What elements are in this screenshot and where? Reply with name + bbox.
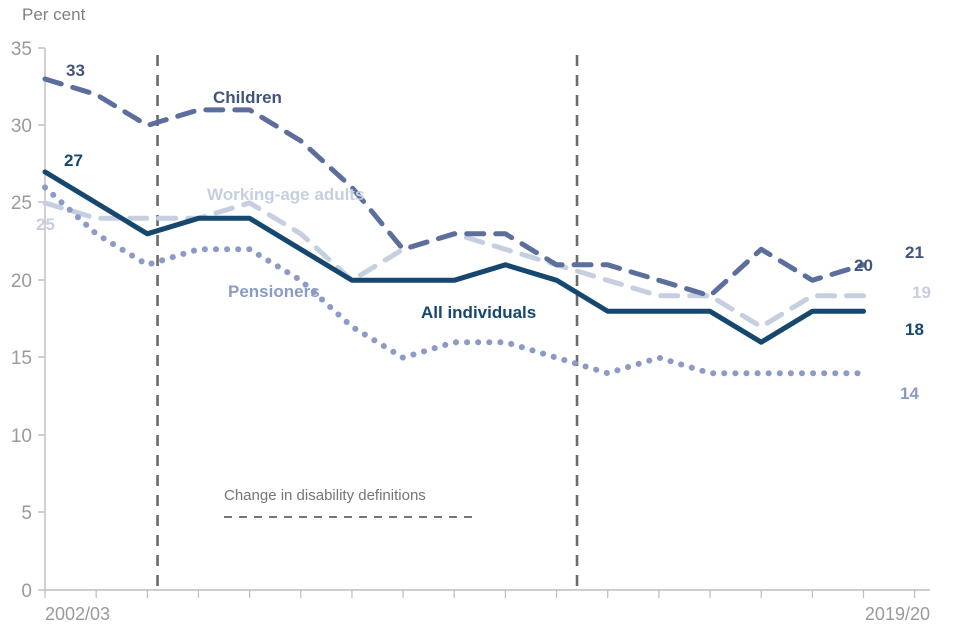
start-value-children: 33 [66, 61, 85, 80]
series-label-children: Children [213, 88, 282, 107]
series-label-all-individuals: All individuals [421, 303, 536, 322]
y-tick-label-20: 20 [11, 271, 32, 292]
start-value-all-individuals: 27 [64, 151, 83, 170]
x-axis-ticks [45, 590, 915, 598]
y-tick-label-0: 0 [21, 581, 32, 602]
y-tick-label-15: 15 [11, 348, 32, 369]
y-tick-label-30: 30 [11, 116, 32, 137]
end-value-all-individuals: 18 [905, 320, 924, 339]
annotation-text-change-in-disability-definitions: Change in disability definitions [224, 487, 426, 504]
chart-container: Per cent 35 30 25 20 15 10 5 0 2002/03 2… [0, 0, 960, 640]
series-label-pensioners: Pensioners [228, 282, 320, 301]
x-tick-label-first: 2002/03 [45, 604, 110, 624]
end-value-children: 21 [905, 243, 924, 262]
y-axis-title: Per cent [22, 5, 86, 24]
y-tick-label-35: 35 [11, 39, 32, 60]
end-value-children-prev: 20 [854, 256, 873, 275]
x-tick-label-last: 2019/20 [865, 604, 930, 624]
y-tick-label-25: 25 [11, 193, 32, 214]
y-axis-ticks [38, 48, 45, 590]
y-tick-label-5: 5 [21, 503, 32, 524]
series-layer [45, 79, 864, 373]
series-label-working-age-adults: Working-age adults [207, 185, 364, 204]
series-line-children [45, 79, 864, 296]
line-chart-svg: Per cent 35 30 25 20 15 10 5 0 2002/03 2… [0, 0, 960, 640]
start-value-working-age-adults: 25 [36, 215, 55, 234]
end-value-pensioners: 14 [900, 384, 919, 403]
y-tick-label-10: 10 [11, 426, 32, 447]
end-value-working-age-adults: 19 [912, 283, 931, 302]
